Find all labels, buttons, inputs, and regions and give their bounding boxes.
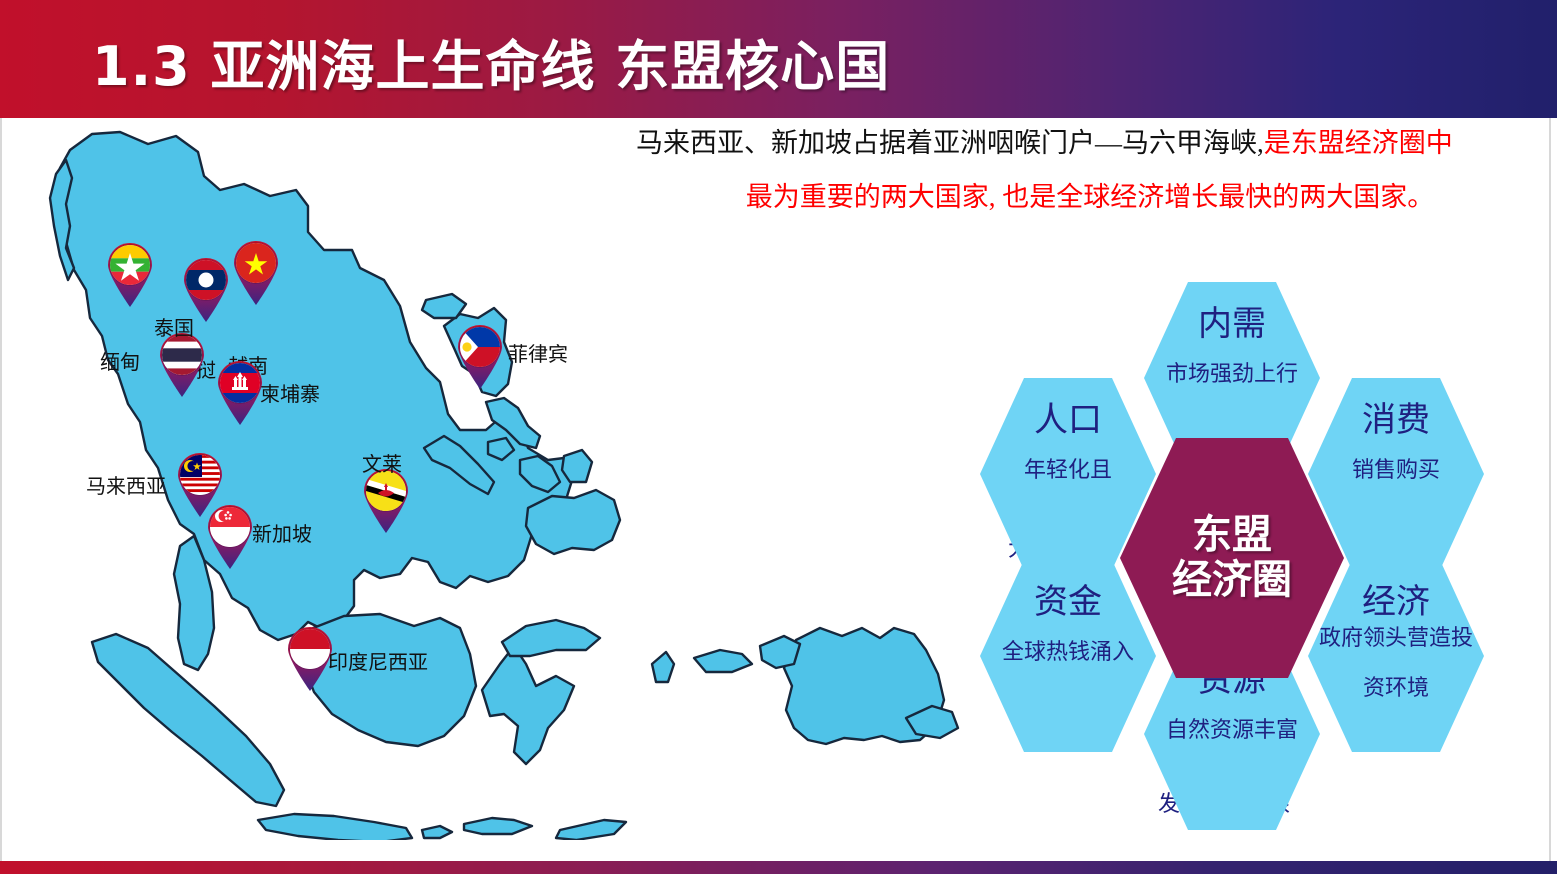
- flag-vietnam: [236, 243, 276, 283]
- southeast-asia-map: 缅甸 老挝 越南: [8, 130, 968, 840]
- halmahera: [652, 652, 674, 682]
- hex-sub-economy-2: 资环境: [1363, 674, 1429, 702]
- hex-title-economy: 经济: [1362, 586, 1430, 620]
- map-pin-vietnam[interactable]: [230, 238, 282, 306]
- slide: 1.3 亚洲海上生命线 东盟核心国 马来西亚、新加坡占据着亚洲咽喉门户—马六甲海…: [0, 0, 1557, 874]
- map-pin-cambodia[interactable]: [214, 358, 266, 426]
- sulawesi-north-arm: [502, 620, 600, 656]
- hex-sub-population-1: 年轻化且: [1024, 456, 1112, 484]
- map-pin-label-singapore: 新加坡: [252, 518, 312, 547]
- sulawesi: [482, 646, 574, 764]
- map-pin-label-philippines: 菲律宾: [508, 338, 568, 367]
- maluku-islands: [694, 650, 752, 672]
- flag-cambodia: [220, 363, 260, 403]
- samar-leyte: [562, 450, 592, 482]
- right-border-rule: [1549, 118, 1551, 861]
- map-pin-label-malaysia: 马来西亚: [86, 470, 166, 499]
- left-border-rule: [0, 118, 2, 861]
- map-pin-label-thailand: 泰国: [154, 312, 194, 341]
- page-title: 1.3 亚洲海上生命线 东盟核心国: [92, 22, 890, 101]
- sumba-flores: [464, 818, 532, 834]
- map-pin-label-cambodia: 柬埔寨: [260, 378, 320, 407]
- hex-center-line-1: 东盟: [1192, 513, 1272, 558]
- asean-economy-hex-diagram: 内需 市场强劲上行 人口 年轻化且 大幅增长 消费 销售购买 力旺盛 资金 全球…: [962, 282, 1502, 827]
- papua-birdhead: [760, 636, 800, 668]
- map-pin-label-myanmar: 缅甸: [100, 346, 140, 375]
- hex-title-internal-demand: 内需: [1198, 308, 1266, 342]
- hex-title-consumption: 消费: [1362, 404, 1430, 438]
- hex-sub-economy-1: 政府领头营造投: [1319, 624, 1473, 652]
- intro-line-1-red: 是东盟经济圈中: [1264, 128, 1453, 158]
- flag-laos: [186, 260, 226, 300]
- flag-myanmar: [110, 245, 150, 285]
- bali-lombok: [422, 826, 452, 838]
- timor: [556, 820, 626, 840]
- map-pin-myanmar[interactable]: [104, 240, 156, 308]
- flag-thailand: [162, 335, 202, 375]
- hex-center-line-2: 经济圈: [1172, 558, 1292, 603]
- map-pin-philippines[interactable]: [454, 322, 506, 390]
- flag-philippines: [460, 327, 500, 367]
- slide-footer-bar: [0, 861, 1557, 874]
- flag-malaysia: [180, 455, 220, 495]
- hex-sub-capital-1: 全球热钱涌入: [1002, 638, 1134, 666]
- hex-title-population: 人口: [1034, 404, 1102, 438]
- hex-sub-consumption-1: 销售购买: [1352, 456, 1440, 484]
- hainan-island: [422, 294, 466, 318]
- hex-sub-internal-demand-1: 市场强劲上行: [1166, 360, 1298, 388]
- map-pin-singapore[interactable]: [204, 502, 256, 570]
- hex-tile-economy[interactable]: 经济 政府领头营造投 资环境: [1308, 560, 1484, 752]
- slide-header-bar: 1.3 亚洲海上生命线 东盟核心国: [0, 0, 1557, 118]
- java: [258, 814, 412, 840]
- flag-singapore: [210, 507, 250, 547]
- flag-indonesia: [290, 629, 330, 669]
- hex-tile-capital[interactable]: 资金 全球热钱涌入: [980, 560, 1156, 752]
- flag-brunei: [366, 471, 406, 511]
- map-pin-label-brunei: 文莱: [362, 448, 402, 477]
- hex-sub-resources-1: 自然资源丰富: [1166, 716, 1298, 744]
- map-pin-label-indonesia: 印度尼西亚: [328, 646, 428, 675]
- hex-title-capital: 资金: [1034, 586, 1102, 620]
